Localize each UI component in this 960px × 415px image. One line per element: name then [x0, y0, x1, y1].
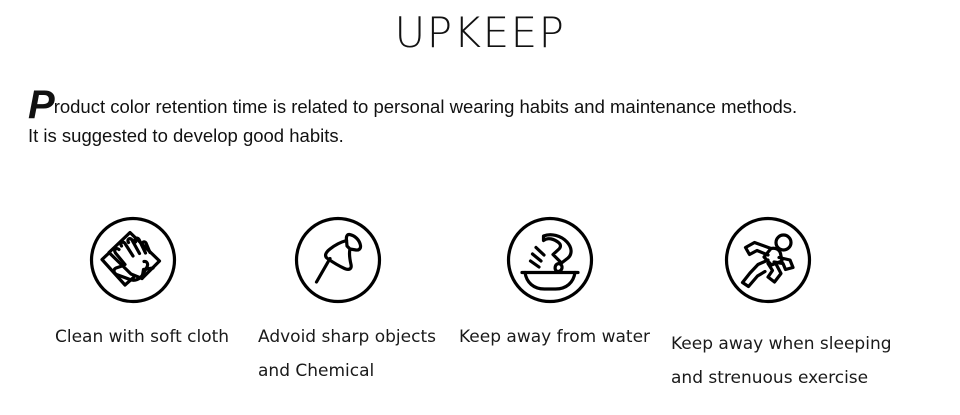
care-caption-4-line-2: and strenuous exercise [671, 361, 892, 395]
intro-line-1: roduct color retention time is related t… [54, 96, 798, 117]
care-icon-3 [506, 216, 594, 304]
hand-wiping-cloth-icon [89, 216, 177, 304]
care-caption-4: Keep away when sleeping and strenuous ex… [671, 327, 892, 395]
care-caption-2-line-1: Advoid sharp objects [258, 320, 436, 354]
page-title: UPKEEP [0, 8, 960, 58]
faucet-water-bowl-icon [506, 216, 594, 304]
care-icon-2 [294, 216, 382, 304]
care-icon-4 [724, 216, 812, 304]
care-caption-3-line-1: Keep away from water [459, 320, 650, 354]
care-icon-row [0, 216, 960, 308]
care-caption-2: Advoid sharp objects and Chemical [258, 320, 436, 388]
care-caption-2-line-2: and Chemical [258, 354, 436, 388]
care-caption-3: Keep away from water [459, 320, 650, 354]
upkeep-care-instructions-page: UPKEEP Product color retention time is r… [0, 0, 960, 415]
intro-paragraph: Product color retention time is related … [28, 92, 928, 150]
care-caption-1: Clean with soft cloth [55, 320, 229, 354]
intro-line-2: It is suggested to develop good habits. [28, 125, 344, 146]
push-pin-icon [294, 216, 382, 304]
running-person-icon [724, 216, 812, 304]
care-icon-1 [89, 216, 177, 304]
drop-cap-letter: P [28, 83, 54, 127]
care-caption-1-line-1: Clean with soft cloth [55, 320, 229, 354]
care-caption-4-line-1: Keep away when sleeping [671, 327, 892, 361]
